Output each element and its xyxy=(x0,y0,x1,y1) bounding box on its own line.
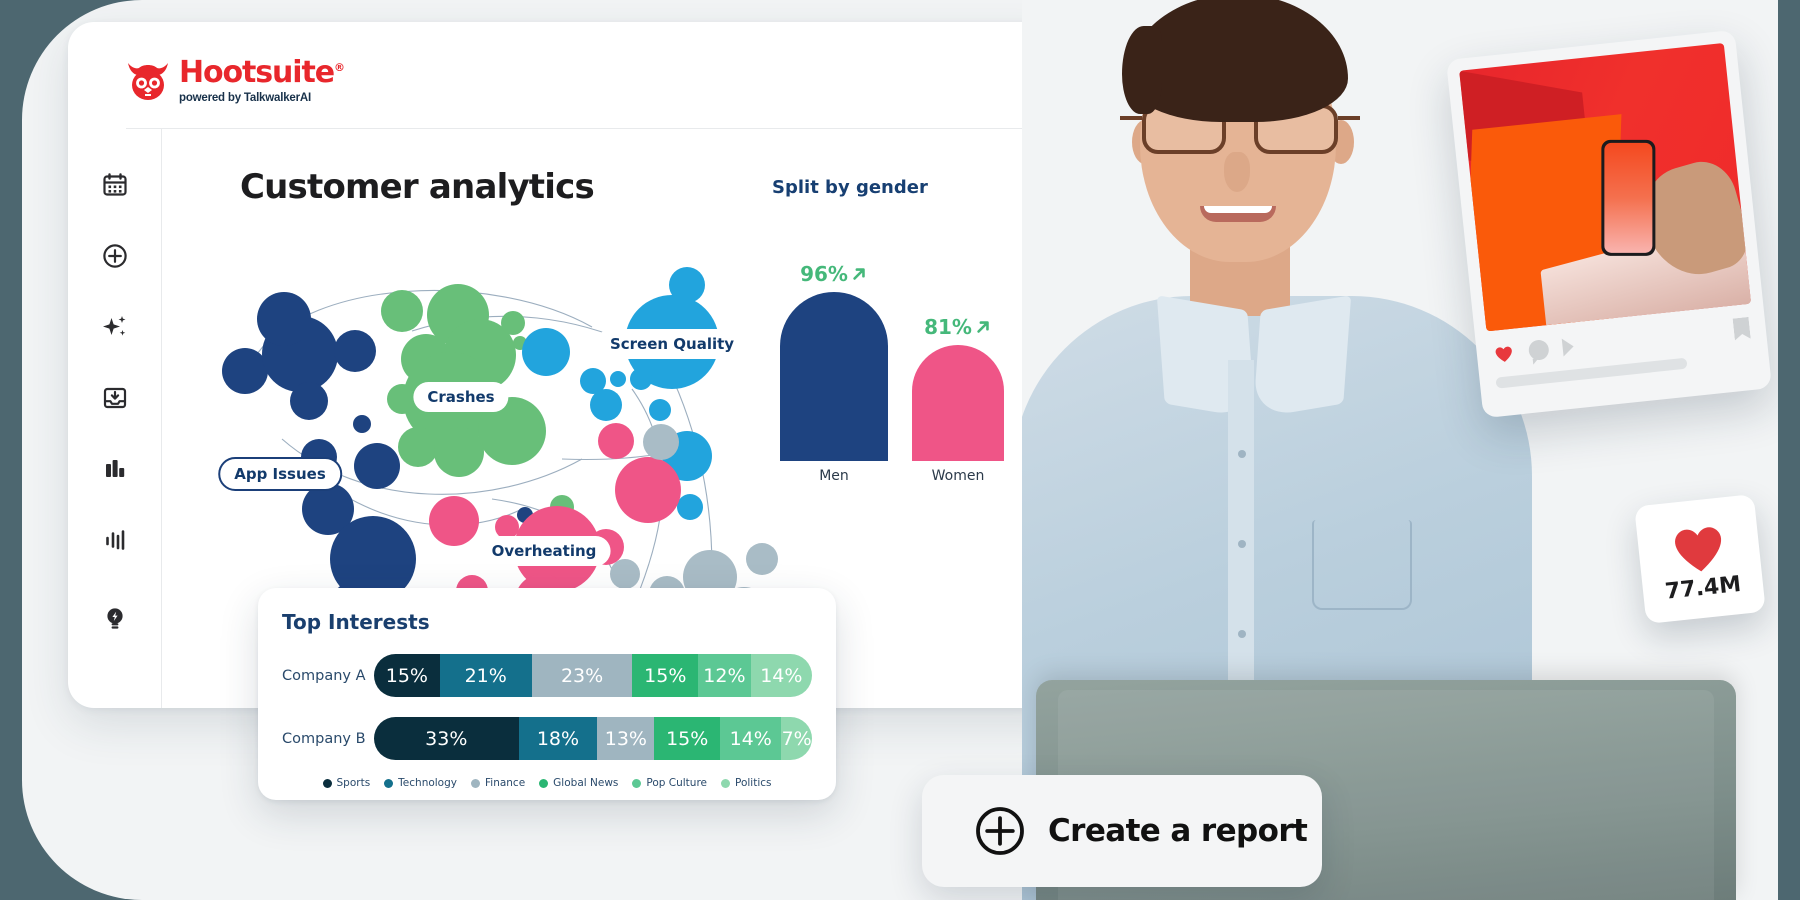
gender-chart: Split by gender 96% Men xyxy=(772,177,1042,507)
nose xyxy=(1224,152,1250,192)
bar-men-value: 96% xyxy=(800,262,868,286)
brand-tagline: powered by TalkwalkerAI xyxy=(179,92,344,104)
legend-dot-icon xyxy=(632,779,641,788)
likes-stat-card[interactable]: 77.4M xyxy=(1634,494,1766,624)
legend-item-pop-culture[interactable]: Pop Culture xyxy=(632,777,707,789)
segment-politics[interactable]: 7% xyxy=(781,717,812,760)
inbox-download-icon xyxy=(102,385,128,411)
legend-item-global-news[interactable]: Global News xyxy=(539,777,618,789)
heart-icon[interactable] xyxy=(1492,342,1516,366)
arrow-up-right-icon xyxy=(850,265,868,283)
create-report-button[interactable]: Create a report xyxy=(922,775,1322,887)
segment-technology[interactable]: 18% xyxy=(519,717,598,760)
legend-label: Politics xyxy=(735,777,772,789)
sidebar-item-inbox[interactable] xyxy=(93,376,137,420)
segment-finance[interactable]: 13% xyxy=(597,717,654,760)
bar-women[interactable]: 81% Women xyxy=(912,345,1004,461)
shirt-button xyxy=(1238,450,1246,458)
bubble-label-app-issues[interactable]: App Issues xyxy=(218,457,342,491)
segment-sports[interactable]: 33% xyxy=(374,717,519,760)
sidebar-item-streams[interactable] xyxy=(93,518,137,562)
likes-count: 77.4M xyxy=(1664,571,1742,604)
social-post-card[interactable] xyxy=(1446,30,1772,418)
waveform-icon xyxy=(102,527,128,553)
bubble-label-screen-quality[interactable]: Screen Quality xyxy=(596,329,748,359)
interests-legend: Sports Technology Finance Global News Po… xyxy=(282,777,812,789)
legend-item-politics[interactable]: Politics xyxy=(721,777,772,789)
bar-men-rect xyxy=(780,292,888,461)
sparkles-icon xyxy=(101,313,129,341)
legend-item-sports[interactable]: Sports xyxy=(323,777,371,789)
segment-pop-culture[interactable]: 14% xyxy=(720,717,781,760)
interests-row-company-a: Company A 15% 21% 23% 15% 12% 14% xyxy=(282,654,812,697)
stacked-bar-company-a[interactable]: 15% 21% 23% 15% 12% 14% xyxy=(374,654,812,697)
segment-technology[interactable]: 21% xyxy=(440,654,532,697)
owl-logo-icon xyxy=(126,61,170,101)
segment-global-news[interactable]: 15% xyxy=(632,654,698,697)
legend-dot-icon xyxy=(471,779,480,788)
sidebar-item-analytics[interactable] xyxy=(93,447,137,491)
lightbulb-bolt-icon xyxy=(102,606,128,632)
share-icon[interactable] xyxy=(1562,337,1575,356)
mouth xyxy=(1200,206,1276,222)
registered-mark: ® xyxy=(334,61,344,74)
segment-global-news[interactable]: 15% xyxy=(654,717,720,760)
sidebar-item-ai[interactable] xyxy=(93,305,137,349)
bubble-label-crashes[interactable]: Crashes xyxy=(413,382,508,412)
heart-icon xyxy=(1665,514,1733,576)
legend-dot-icon xyxy=(539,779,548,788)
page-title: Customer analytics xyxy=(240,167,594,207)
plus-circle-icon xyxy=(102,243,128,269)
brand-name: Hootsuite® xyxy=(179,58,344,88)
hair-side xyxy=(1122,26,1162,114)
top-interests-title: Top Interests xyxy=(282,610,812,634)
glasses-temple-left xyxy=(1120,116,1142,120)
shirt-button xyxy=(1238,630,1246,638)
brand-bar: Hootsuite® powered by TalkwalkerAI xyxy=(68,22,1078,128)
bar-women-value-text: 81% xyxy=(924,315,972,339)
bar-chart-icon xyxy=(102,456,128,482)
bubble-label-overheating[interactable]: Overheating xyxy=(478,536,611,566)
segment-politics[interactable]: 14% xyxy=(751,654,812,697)
legend-dot-icon xyxy=(721,779,730,788)
arrow-up-right-icon xyxy=(974,318,992,336)
interests-row-label: Company B xyxy=(282,731,374,747)
phone-mockup xyxy=(1601,140,1655,256)
legend-label: Pop Culture xyxy=(646,777,707,789)
gender-bars: 96% Men 81% xyxy=(774,307,1004,487)
stacked-bar-company-b[interactable]: 33% 18% 13% 15% 14% 7% xyxy=(374,717,812,760)
sidebar-item-create[interactable] xyxy=(93,234,137,278)
bar-men-label: Men xyxy=(819,468,849,484)
calendar-icon xyxy=(102,172,128,198)
bar-women-rect xyxy=(912,345,1004,461)
hootsuite-logo[interactable]: Hootsuite® powered by TalkwalkerAI xyxy=(126,58,344,104)
bookmark-icon[interactable] xyxy=(1733,317,1751,341)
sidebar-item-insights[interactable] xyxy=(93,597,137,641)
glasses-temple-right xyxy=(1338,116,1360,120)
legend-dot-icon xyxy=(384,779,393,788)
bar-men[interactable]: 96% Men xyxy=(780,292,888,461)
bar-women-label: Women xyxy=(932,468,985,484)
sidebar-nav xyxy=(68,129,162,708)
segment-finance[interactable]: 23% xyxy=(532,654,633,697)
phone-screen xyxy=(1604,143,1652,253)
legend-item-finance[interactable]: Finance xyxy=(471,777,525,789)
comment-icon[interactable] xyxy=(1528,339,1550,361)
interests-row-company-b: Company B 33% 18% 13% 15% 14% 7% xyxy=(282,717,812,760)
shirt-pocket xyxy=(1312,520,1412,610)
collar-right xyxy=(1253,295,1351,419)
brand-text-block: Hootsuite® powered by TalkwalkerAI xyxy=(179,58,344,104)
top-interests-card: Top Interests Company A 15% 21% 23% 15% … xyxy=(258,588,836,800)
segment-pop-culture[interactable]: 12% xyxy=(698,654,751,697)
bar-women-value: 81% xyxy=(924,315,992,339)
legend-label: Finance xyxy=(485,777,525,789)
legend-dot-icon xyxy=(323,779,332,788)
post-image xyxy=(1459,43,1751,331)
sidebar-item-calendar[interactable] xyxy=(93,163,137,207)
create-report-label: Create a report xyxy=(1048,813,1307,849)
legend-label: Sports xyxy=(337,777,371,789)
page-backdrop: Hootsuite® powered by TalkwalkerAI xyxy=(22,0,1778,900)
gender-chart-title: Split by gender xyxy=(772,177,1042,198)
bar-men-value-text: 96% xyxy=(800,262,848,286)
shirt-button xyxy=(1238,540,1246,548)
legend-item-technology[interactable]: Technology xyxy=(384,777,457,789)
legend-label: Technology xyxy=(398,777,457,789)
segment-sports[interactable]: 15% xyxy=(374,654,440,697)
legend-label: Global News xyxy=(553,777,618,789)
plus-circle-icon xyxy=(974,805,1026,857)
interests-row-label: Company A xyxy=(282,668,374,684)
